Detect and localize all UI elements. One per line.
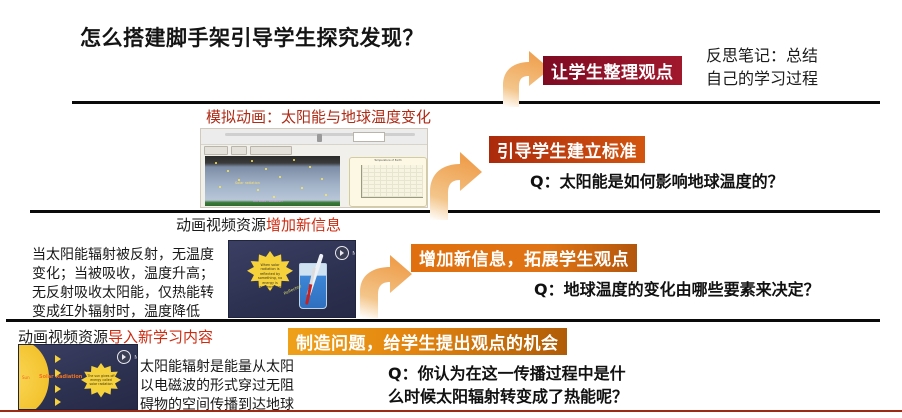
simulation-button-row[interactable]: [204, 146, 292, 155]
chart-plot-area: [361, 165, 423, 198]
stage-3-caption-highlight: 增加新信息: [266, 216, 341, 234]
stage-3-body-line-2: 变化；当被吸收，温度升高；: [32, 265, 232, 284]
label-solar-radiation: Solar radiation: [235, 181, 260, 185]
stage-3-body-line-3: 无反射吸收太阳能，仅热能转: [32, 284, 232, 303]
next-label: Next: [134, 355, 138, 361]
stage-1-banner: 让学生整理观点: [543, 56, 682, 85]
curved-arrow-icon-3: [348, 252, 414, 318]
stage-4-body-line-1: 太阳能辐射是能量从太阳: [140, 358, 330, 377]
simulation-setup-button[interactable]: [204, 146, 228, 155]
starburst-note-shape: When solar radiation is reflected by som…: [247, 251, 293, 293]
play-circle-icon[interactable]: Next: [117, 350, 131, 364]
stage-3-banner: 增加新信息，拓展学生观点: [411, 244, 637, 272]
simulation-toolbar: [201, 129, 427, 145]
starburst-note-text: When solar radiation is reflected by som…: [254, 263, 286, 298]
starburst-note-shape: The sun gives off energy called solar ra…: [81, 363, 121, 399]
simulation-canvas: Solar radiation Infrared radiation: [205, 156, 340, 206]
stage-1-note: 反思笔记：总结 自己的学习过程: [706, 44, 818, 90]
simulation-go-button[interactable]: [231, 146, 247, 155]
simulation-years-field[interactable]: [353, 132, 385, 142]
stage-3-caption-plain: 动画视频资源: [176, 216, 266, 234]
stage-1-note-line-1: 反思笔记：总结: [706, 44, 818, 67]
stage-3-question: Q：地球温度的变化由哪些要素来决定？: [534, 278, 820, 301]
play-circle-icon[interactable]: Next: [335, 246, 349, 260]
stage-2-caption-highlight: 太阳能与地球温度变化: [281, 108, 431, 126]
bottom-rule: [0, 410, 902, 412]
slider-knob[interactable]: [317, 134, 322, 142]
stage-4-banner: 制造问题，给学生提出观点的机会: [288, 328, 567, 355]
glass-thermometer-video[interactable]: When solar radiation is reflected by som…: [228, 240, 356, 318]
sun-label: Sun: [22, 375, 30, 380]
stage-2-caption-plain: 模拟动画：: [206, 108, 281, 126]
page-title: 怎么搭建脚手架引导学生探究发现？: [80, 22, 424, 52]
stage-3-caption: 动画视频资源增加新信息: [176, 214, 341, 235]
stage-4-question-line-2: 么时候太阳辐射转变成了热能呢？: [388, 385, 628, 408]
chart-title: Temperature of Earth: [350, 159, 426, 162]
section-divider-1: [72, 101, 880, 104]
stage-4-body-line-3: 碍物的空间传播到达地球: [140, 396, 330, 415]
curved-arrow-icon-2: [418, 148, 484, 220]
stage-4-question: Q：你认为在这一传播过程中是什 么时候太阳辐射转变成了热能呢？: [388, 362, 628, 408]
stage-4-body-line-2: 以电磁波的形式穿过无阻: [140, 377, 330, 396]
label-infrared-radiation: Infrared radiation: [253, 199, 283, 203]
simulation-screenshot[interactable]: Solar radiation Infrared radiation Tempe…: [200, 128, 428, 208]
simulation-temperature-chart: Temperature of Earth: [349, 157, 427, 207]
stage-2-banner: 引导学生建立标准: [489, 136, 645, 163]
starburst-note-text: The sun gives off energy called solar ra…: [87, 374, 115, 386]
stage-1-note-line-2: 自己的学习过程: [706, 67, 818, 90]
stage-4-question-line-1: Q：你认为在这一传播过程中是什: [388, 362, 628, 385]
stage-2-question: Q：太阳能是如何影响地球温度的？: [530, 170, 784, 193]
simulation-speed-slider[interactable]: [225, 133, 415, 136]
stage-4-body: 太阳能辐射是能量从太阳 以电磁波的形式穿过无阻 碍物的空间传播到达地球: [140, 358, 330, 415]
simulation-watch-button[interactable]: [250, 146, 292, 155]
stage-2-caption: 模拟动画：太阳能与地球温度变化: [206, 106, 431, 127]
stage-3-body-line-4: 变成红外辐射时，温度降低: [32, 303, 232, 322]
stage-3-body-line-1: 当太阳能辐射被反射，无温度: [32, 246, 232, 265]
stage-3-body: 当太阳能辐射被反射，无温度 变化；当被吸收，温度升高； 无反射吸收太阳能，仅热能…: [32, 246, 232, 322]
sun-solar-radiation-video[interactable]: Sun Solar Radiation The sun gives off en…: [18, 344, 138, 410]
slide-root: 怎么搭建脚手架引导学生探究发现？ 让学生整理观点 反思笔记：总结 自己的学习过程…: [0, 0, 902, 418]
